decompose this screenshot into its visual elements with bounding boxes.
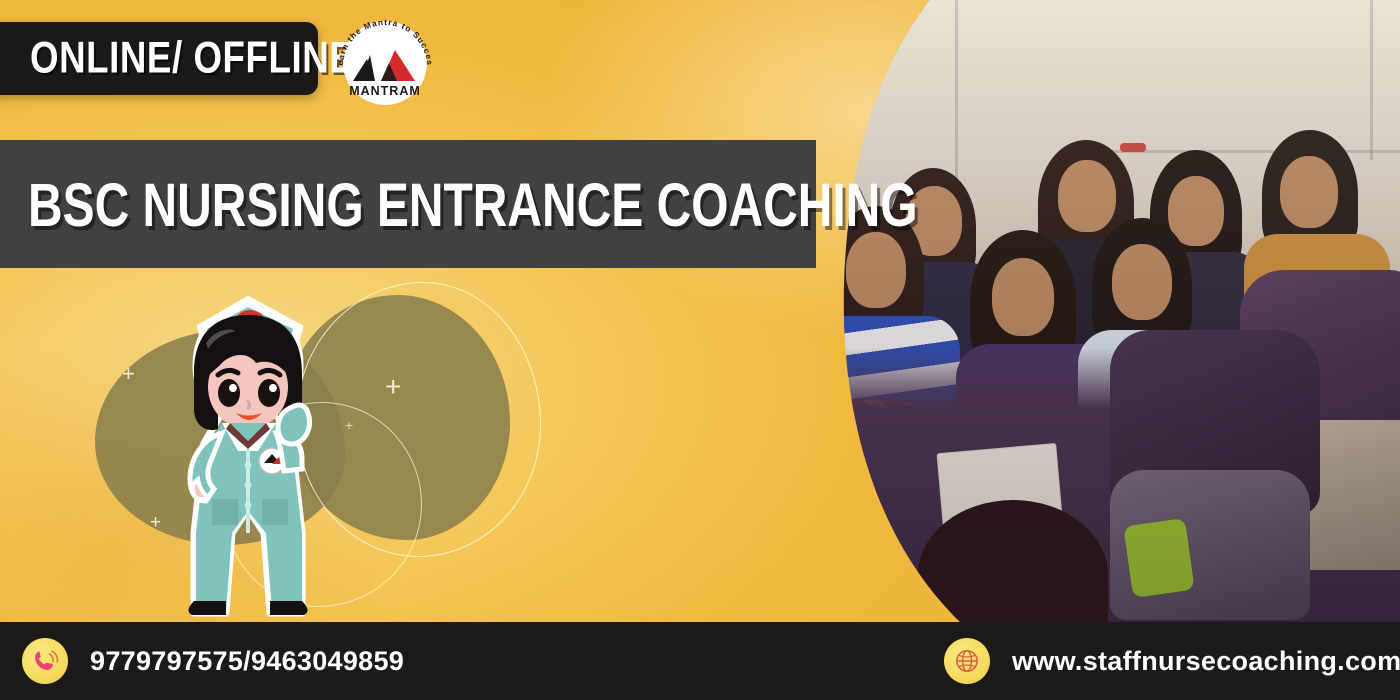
photo-content	[810, 0, 1400, 622]
banner-background: + + + +	[0, 0, 1400, 622]
banner-footer: 9779797575/9463049859 www.staffnursecoac…	[0, 622, 1400, 700]
phone-contact[interactable]: 9779797575/9463049859	[22, 638, 404, 684]
nurse-mascot-illustration	[152, 283, 348, 622]
sparkle-icon: +	[122, 363, 135, 385]
website-contact[interactable]: www.staffnursecoaching.com	[944, 638, 1400, 684]
phone-ringing-icon	[22, 638, 68, 684]
page-title: BSC NURSING ENTRANCE COACHING	[28, 168, 918, 240]
promotional-banner: + + + +	[0, 0, 1400, 700]
globe-icon	[944, 638, 990, 684]
headline-bar: BSC NURSING ENTRANCE COACHING	[0, 140, 816, 268]
mantram-mountain-logo-icon: Learn the Mantra to Success MANTRAM	[331, 19, 439, 107]
logo-brand: MANTRAM	[349, 84, 421, 98]
mantram-logo: Learn the Mantra to Success MANTRAM	[331, 19, 439, 107]
photo-color-grade	[810, 0, 1400, 622]
website-url: www.staffnursecoaching.com	[1012, 646, 1400, 677]
online-offline-badge: ONLINE/ OFFLINE	[0, 22, 318, 95]
sparkle-icon: +	[385, 373, 401, 401]
classroom-students-photo	[810, 0, 1400, 622]
badge-label: ONLINE/ OFFLINE	[30, 33, 354, 84]
phone-number: 9779797575/9463049859	[90, 646, 404, 677]
nurse-mascot	[152, 283, 348, 622]
